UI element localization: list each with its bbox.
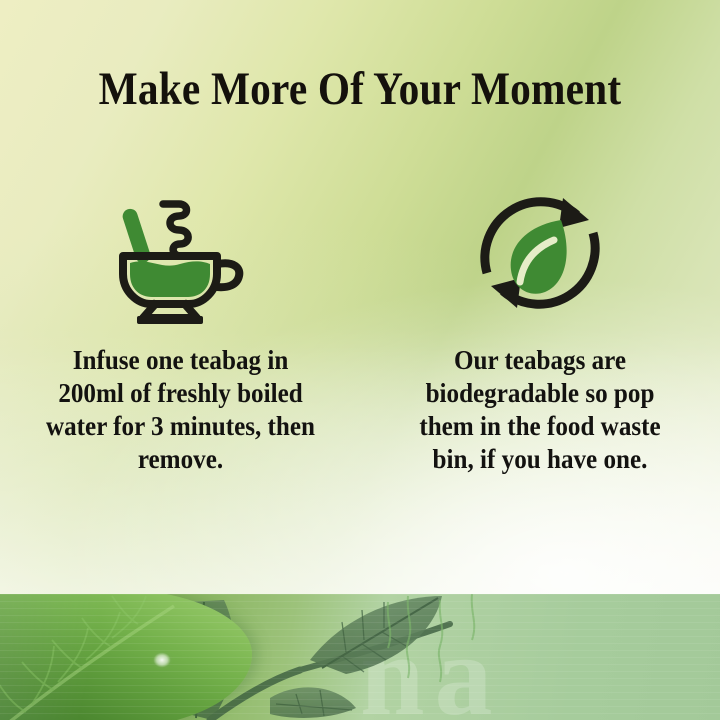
cup-foot-icon <box>137 316 203 324</box>
tea-liquid <box>130 261 210 297</box>
leaf-photo-veins <box>0 594 252 720</box>
poster: Make More Of Your Moment <box>0 0 720 720</box>
info-column-biodegradable: Our teabags are biodegradable so pop the… <box>360 178 720 476</box>
info-columns: Infuse one teabag in 200ml of freshly bo… <box>0 178 720 476</box>
bottom-leaf-band: na <box>0 594 720 720</box>
recycle-leaf-icon <box>465 178 615 328</box>
tea-cup-icon <box>105 178 255 328</box>
leaf-icon <box>511 220 567 294</box>
info-column-brewing: Infuse one teabag in 200ml of freshly bo… <box>0 178 360 476</box>
page-title: Make More Of Your Moment <box>43 63 677 115</box>
caption-brewing: Infuse one teabag in 200ml of freshly bo… <box>38 344 322 476</box>
cup-icon <box>123 256 239 324</box>
steam-icon <box>163 204 188 256</box>
caption-biodegradable: Our teabags are biodegradable so pop the… <box>405 344 675 476</box>
